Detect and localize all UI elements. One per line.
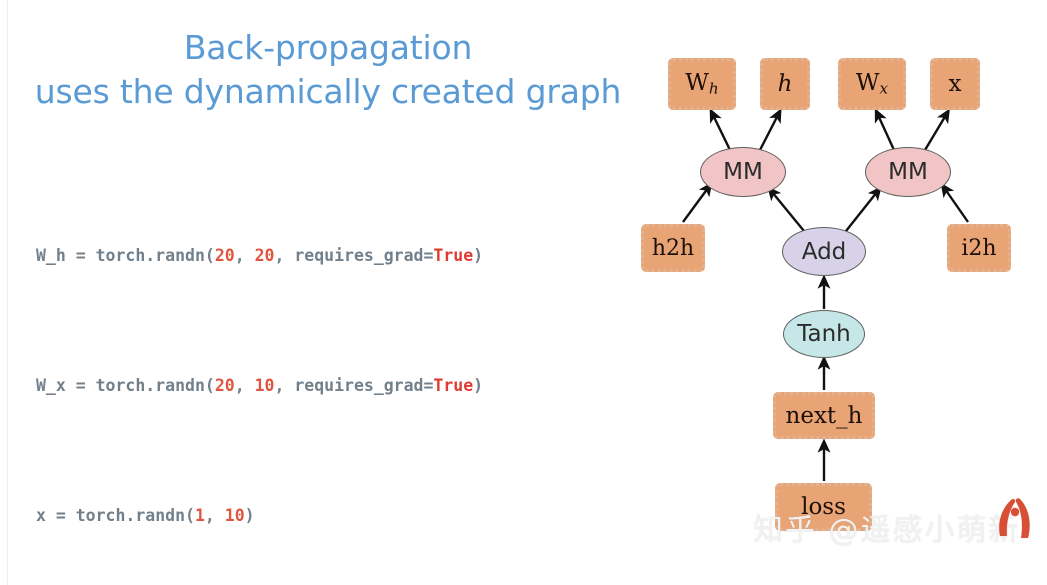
code-line-1: W_h = torch.randn(20, 20, requires_grad=… [36, 240, 483, 273]
graph-node-next_h-label: next_h [786, 403, 863, 429]
page-title: Back-propagation uses the dynamically cr… [18, 26, 638, 114]
title-line-2: uses the dynamically created graph [18, 70, 638, 114]
graph-node-i2h-label: i2h [961, 236, 996, 261]
graph-node-W_x[interactable]: Wx [838, 58, 906, 110]
zhihu-logo-icon [988, 486, 1040, 542]
code-line-2: W_x = torch.randn(20, 10, requires_grad=… [36, 370, 483, 403]
graph-node-x-label: x [949, 71, 962, 97]
graph-node-Tanh-label: Tanh [797, 321, 851, 347]
computation-graph: Wh h Wx x MM MM h2h Add i2h Tanh [620, 0, 1047, 585]
graph-node-W_h[interactable]: Wh [668, 58, 736, 110]
graph-node-h2h-label: h2h [652, 236, 694, 261]
graph-node-Tanh[interactable]: Tanh [783, 310, 865, 358]
code-line-3: x = torch.randn(1, 10) [36, 500, 483, 533]
slide-canvas: Back-propagation uses the dynamically cr… [0, 0, 1047, 585]
graph-node-h2h[interactable]: h2h [641, 224, 705, 272]
graph-node-i2h[interactable]: i2h [947, 224, 1011, 272]
graph-node-h-label: h [778, 71, 793, 97]
edge-mml-to-wh [713, 115, 730, 150]
graph-node-MM-right-label: MM [888, 159, 928, 185]
edge-mmr-to-x [925, 115, 946, 150]
graph-node-next_h[interactable]: next_h [773, 392, 875, 439]
graph-node-x[interactable]: x [930, 58, 980, 110]
edge-mml-to-h [760, 115, 778, 150]
edge-add-to-mmr [846, 192, 877, 231]
graph-node-Add[interactable]: Add [782, 227, 866, 276]
graph-node-MM-left-label: MM [723, 159, 763, 185]
graph-node-MM-right[interactable]: MM [865, 147, 951, 197]
edge-mmr-to-wx [878, 115, 894, 150]
slide-left-border [7, 0, 8, 585]
graph-node-W_h-label: Wh [685, 70, 718, 97]
edge-i2h-to-mmr [945, 189, 968, 222]
title-line-1: Back-propagation [18, 26, 638, 70]
graph-node-h[interactable]: h [760, 58, 810, 110]
graph-node-MM-left[interactable]: MM [700, 147, 786, 197]
edge-h2h-to-mml [683, 188, 708, 222]
graph-node-Add-label: Add [802, 239, 847, 265]
graph-node-W_x-label: Wx [856, 70, 888, 97]
code-block: W_h = torch.randn(20, 20, requires_grad=… [36, 142, 483, 585]
watermark-text: 知乎 @遥感小萌新 [753, 505, 1021, 549]
edge-add-to-mml [772, 192, 804, 231]
